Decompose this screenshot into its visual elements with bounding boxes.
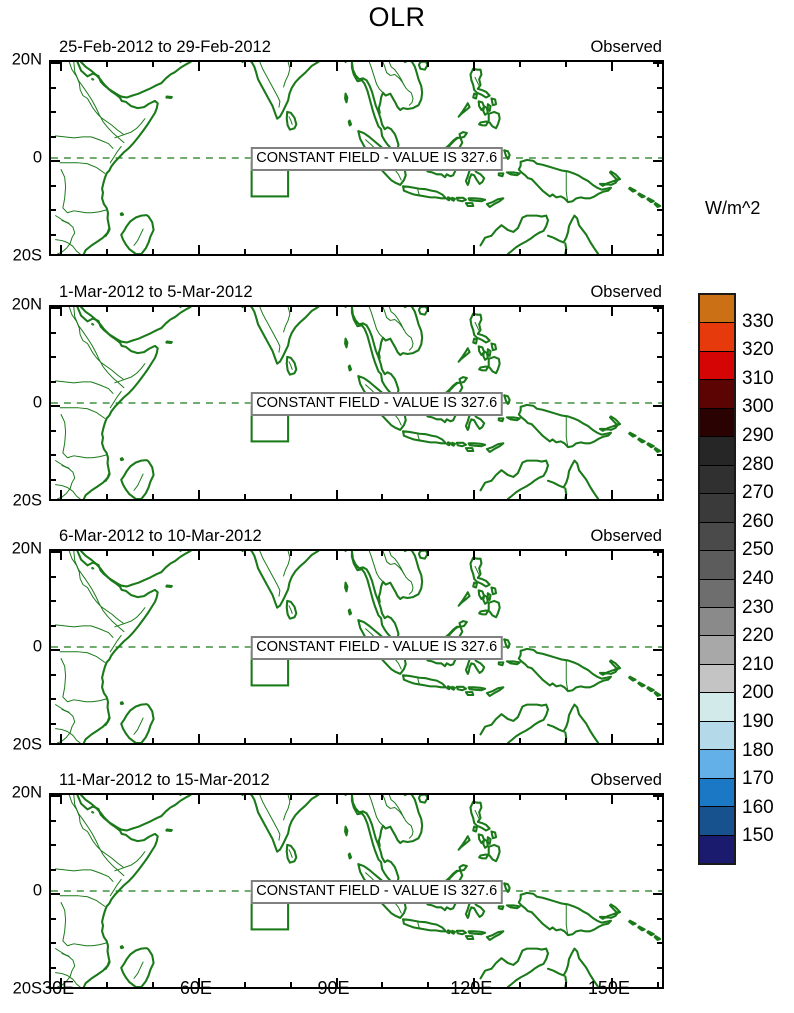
colorbar-tick-label: 150 — [742, 825, 774, 847]
panel-frame: CONSTANT FIELD - VALUE IS 327.6 — [49, 305, 664, 501]
x-tick — [381, 307, 383, 312]
colorbar-band — [700, 636, 734, 664]
y-tick — [657, 356, 662, 358]
x-tick — [519, 307, 521, 312]
y-tick — [653, 160, 662, 162]
x-tick — [565, 307, 567, 312]
x-tick — [198, 245, 200, 254]
y-tick — [51, 674, 56, 676]
x-tick — [152, 494, 154, 499]
x-tick — [152, 795, 154, 800]
x-tick — [473, 551, 475, 560]
x-tick — [565, 249, 567, 254]
y-tick — [51, 795, 60, 797]
x-tick — [244, 249, 246, 254]
map-panel-4: 11-Mar-2012 to 15-Mar-2012ObservedCONSTA… — [49, 793, 664, 989]
constant-field-annotation: CONSTANT FIELD - VALUE IS 327.6 — [250, 147, 503, 171]
y-tick — [51, 332, 56, 334]
x-tick — [198, 307, 200, 316]
colorbar-band — [700, 836, 734, 863]
x-tick — [152, 249, 154, 254]
y-tick — [51, 844, 56, 846]
panel-title: 1-Mar-2012 to 5-Mar-2012 — [59, 283, 253, 302]
y-tick — [657, 674, 662, 676]
y-tick — [51, 87, 56, 89]
colorbar-tick-label: 260 — [742, 511, 774, 533]
colorbar-band — [700, 352, 734, 380]
x-axis-label: 60E — [180, 978, 212, 999]
x-tick — [657, 738, 659, 743]
x-tick — [290, 551, 292, 556]
y-tick — [657, 820, 662, 822]
y-tick — [657, 430, 662, 432]
x-tick — [290, 307, 292, 312]
x-tick — [336, 307, 338, 316]
y-axis-label: 0 — [33, 882, 42, 901]
x-tick — [519, 551, 521, 556]
panel-source-tag: Observed — [590, 283, 662, 302]
colorbar-tick-label: 240 — [742, 568, 774, 590]
y-tick — [51, 723, 56, 725]
x-tick — [427, 307, 429, 312]
y-tick — [51, 869, 56, 871]
colorbar-band — [700, 295, 734, 323]
x-tick — [427, 551, 429, 556]
y-tick — [51, 209, 56, 211]
y-tick — [51, 307, 60, 309]
x-tick — [519, 249, 521, 254]
x-tick — [427, 795, 429, 800]
y-tick — [657, 332, 662, 334]
y-tick — [657, 381, 662, 383]
x-tick — [427, 494, 429, 499]
x-tick — [244, 551, 246, 556]
x-axis-label: 150E — [588, 978, 630, 999]
colorbar-band — [700, 380, 734, 408]
y-axis-label: 20S — [13, 492, 42, 511]
x-tick — [473, 307, 475, 316]
colorbar-band — [700, 608, 734, 636]
colorbar-band — [700, 779, 734, 807]
map-panel-3: 6-Mar-2012 to 10-Mar-2012ObservedCONSTAN… — [49, 549, 664, 745]
x-tick — [60, 490, 62, 499]
x-tick — [611, 245, 613, 254]
map-panel-2: 1-Mar-2012 to 5-Mar-2012ObservedCONSTANT… — [49, 305, 664, 501]
x-tick — [611, 795, 613, 804]
colorbar-tick-label: 220 — [742, 625, 774, 647]
x-tick — [60, 734, 62, 743]
colorbar-tick-label: 180 — [742, 740, 774, 762]
x-tick — [106, 551, 108, 556]
colorbar-tick-label: 160 — [742, 797, 774, 819]
colorbar-tick-label: 190 — [742, 711, 774, 733]
colorbar-band — [700, 665, 734, 693]
colorbar-band — [700, 750, 734, 778]
x-tick — [244, 307, 246, 312]
y-tick — [653, 649, 662, 651]
panel-frame: CONSTANT FIELD - VALUE IS 327.6 — [49, 549, 664, 745]
colorbar-tick-labels: 3303203103002902802702602502402302202102… — [742, 293, 794, 865]
x-tick — [106, 738, 108, 743]
x-tick — [565, 494, 567, 499]
x-tick — [198, 795, 200, 804]
y-tick — [657, 209, 662, 211]
x-tick — [290, 494, 292, 499]
y-tick — [51, 454, 56, 456]
x-tick — [336, 490, 338, 499]
y-tick — [51, 62, 60, 64]
colorbar-band — [700, 437, 734, 465]
y-tick — [653, 893, 662, 895]
x-tick — [290, 738, 292, 743]
y-tick — [51, 649, 60, 651]
panel-source-tag: Observed — [590, 38, 662, 57]
x-tick — [336, 734, 338, 743]
x-axis-tick-labels: 30E60E90E120E150E — [49, 978, 664, 1008]
y-tick — [653, 307, 662, 309]
y-tick — [51, 234, 56, 236]
colorbar-band — [700, 580, 734, 608]
y-tick — [657, 698, 662, 700]
colorbar-band — [700, 409, 734, 437]
y-tick — [51, 942, 56, 944]
x-tick — [290, 795, 292, 800]
x-tick — [381, 249, 383, 254]
x-tick — [565, 551, 567, 556]
y-axis-label: 0 — [33, 149, 42, 168]
x-tick — [152, 62, 154, 67]
y-tick — [51, 967, 56, 969]
colorbar-tick-label: 310 — [742, 368, 774, 390]
y-tick — [657, 234, 662, 236]
x-tick — [519, 795, 521, 800]
panel-source-tag: Observed — [590, 527, 662, 546]
colorbar-tick-label: 230 — [742, 597, 774, 619]
x-tick — [106, 249, 108, 254]
y-tick — [657, 111, 662, 113]
y-tick — [51, 136, 56, 138]
x-tick — [381, 551, 383, 556]
colorbar-tick-label: 300 — [742, 396, 774, 418]
colorbar-band — [700, 551, 734, 579]
colorbar-band — [700, 323, 734, 351]
colorbar-tick-label: 270 — [742, 482, 774, 504]
y-tick — [657, 625, 662, 627]
y-tick — [653, 62, 662, 64]
y-tick — [51, 625, 56, 627]
y-tick — [653, 795, 662, 797]
x-tick — [290, 62, 292, 67]
y-axis-label: 0 — [33, 638, 42, 657]
colorbar[interactable] — [698, 293, 736, 865]
y-tick — [657, 600, 662, 602]
colorbar-band — [700, 494, 734, 522]
colorbar-tick-label: 320 — [742, 339, 774, 361]
y-tick — [657, 576, 662, 578]
y-tick — [51, 820, 56, 822]
colorbar-tick-label: 210 — [742, 654, 774, 676]
y-tick — [51, 160, 60, 162]
y-axis-label: 20S — [13, 736, 42, 755]
colorbar-tick-label: 290 — [742, 425, 774, 447]
x-axis-label: 30E — [42, 978, 74, 999]
panel-source-tag: Observed — [590, 771, 662, 790]
x-tick — [381, 738, 383, 743]
y-tick — [51, 600, 56, 602]
constant-field-annotation: CONSTANT FIELD - VALUE IS 327.6 — [250, 392, 503, 416]
y-tick — [657, 844, 662, 846]
x-tick — [198, 490, 200, 499]
x-tick — [565, 62, 567, 67]
x-tick — [427, 249, 429, 254]
x-tick — [106, 62, 108, 67]
y-axis-label: 20N — [12, 51, 42, 70]
y-tick — [657, 185, 662, 187]
x-tick — [565, 795, 567, 800]
y-tick — [657, 942, 662, 944]
x-tick — [152, 551, 154, 556]
x-tick — [152, 738, 154, 743]
y-tick — [51, 698, 56, 700]
x-tick — [473, 734, 475, 743]
x-tick — [427, 738, 429, 743]
panel-title: 6-Mar-2012 to 10-Mar-2012 — [59, 527, 262, 546]
x-tick — [244, 494, 246, 499]
x-tick — [244, 738, 246, 743]
y-tick — [653, 551, 662, 553]
x-tick — [611, 307, 613, 316]
y-tick — [51, 918, 56, 920]
colorbar-tick-label: 200 — [742, 682, 774, 704]
x-tick — [60, 551, 62, 560]
colorbar-band — [700, 466, 734, 494]
y-tick — [51, 405, 60, 407]
x-tick — [565, 738, 567, 743]
x-tick — [244, 62, 246, 67]
y-axis-label: 20N — [12, 784, 42, 803]
x-tick — [106, 307, 108, 312]
x-tick — [198, 551, 200, 560]
panel-frame: CONSTANT FIELD - VALUE IS 327.6 — [49, 60, 664, 256]
y-axis-label: 20S — [13, 980, 42, 999]
panel-title: 11-Mar-2012 to 15-Mar-2012 — [59, 771, 270, 790]
x-tick — [427, 62, 429, 67]
y-tick — [51, 479, 56, 481]
x-tick — [198, 734, 200, 743]
x-tick — [106, 795, 108, 800]
x-tick — [473, 62, 475, 71]
x-tick — [519, 494, 521, 499]
y-tick — [51, 576, 56, 578]
x-tick — [60, 245, 62, 254]
y-tick — [51, 551, 60, 553]
y-tick — [657, 869, 662, 871]
colorbar-band — [700, 722, 734, 750]
x-tick — [336, 551, 338, 560]
y-axis-label: 20S — [13, 247, 42, 266]
x-tick — [611, 62, 613, 71]
y-tick — [653, 405, 662, 407]
panel-title: 25-Feb-2012 to 29-Feb-2012 — [59, 38, 271, 57]
y-tick — [51, 185, 56, 187]
colorbar-tick-label: 280 — [742, 454, 774, 476]
x-tick — [657, 494, 659, 499]
x-tick — [611, 551, 613, 560]
x-tick — [336, 795, 338, 804]
x-tick — [244, 795, 246, 800]
y-tick — [51, 111, 56, 113]
y-tick — [51, 356, 56, 358]
colorbar-band — [700, 523, 734, 551]
figure-root: OLR 25-Feb-2012 to 29-Feb-2012ObservedCO… — [0, 0, 794, 1013]
y-tick — [657, 967, 662, 969]
x-tick — [106, 494, 108, 499]
y-tick — [657, 136, 662, 138]
y-axis-label: 20N — [12, 296, 42, 315]
figure-title: OLR — [0, 2, 794, 33]
x-axis-label: 90E — [318, 978, 350, 999]
y-tick — [51, 893, 60, 895]
y-tick — [657, 918, 662, 920]
colorbar-units-label: W/m^2 — [705, 198, 760, 219]
colorbar-band — [700, 807, 734, 835]
x-tick — [198, 62, 200, 71]
colorbar-tick-label: 250 — [742, 539, 774, 561]
x-tick — [381, 795, 383, 800]
x-tick — [519, 738, 521, 743]
x-tick — [336, 245, 338, 254]
y-axis-label: 20N — [12, 540, 42, 559]
x-tick — [60, 307, 62, 316]
y-tick — [657, 723, 662, 725]
y-tick — [657, 87, 662, 89]
y-tick — [657, 479, 662, 481]
constant-field-annotation: CONSTANT FIELD - VALUE IS 327.6 — [250, 880, 503, 904]
x-tick — [519, 62, 521, 67]
x-tick — [473, 490, 475, 499]
x-tick — [336, 62, 338, 71]
colorbar-tick-label: 330 — [742, 311, 774, 333]
x-tick — [381, 62, 383, 67]
colorbar-band — [700, 693, 734, 721]
y-axis-label: 0 — [33, 394, 42, 413]
x-tick — [611, 490, 613, 499]
x-tick — [473, 245, 475, 254]
constant-field-annotation: CONSTANT FIELD - VALUE IS 327.6 — [250, 636, 503, 660]
x-tick — [381, 494, 383, 499]
x-tick — [657, 249, 659, 254]
map-panel-1: 25-Feb-2012 to 29-Feb-2012ObservedCONSTA… — [49, 60, 664, 256]
x-tick — [611, 734, 613, 743]
x-tick — [60, 795, 62, 804]
panel-frame: CONSTANT FIELD - VALUE IS 327.6 — [49, 793, 664, 989]
x-axis-label: 120E — [450, 978, 492, 999]
y-tick — [51, 381, 56, 383]
x-tick — [152, 307, 154, 312]
colorbar-tick-label: 170 — [742, 768, 774, 790]
x-tick — [60, 62, 62, 71]
y-tick — [51, 430, 56, 432]
x-tick — [290, 249, 292, 254]
y-tick — [657, 454, 662, 456]
x-tick — [473, 795, 475, 804]
